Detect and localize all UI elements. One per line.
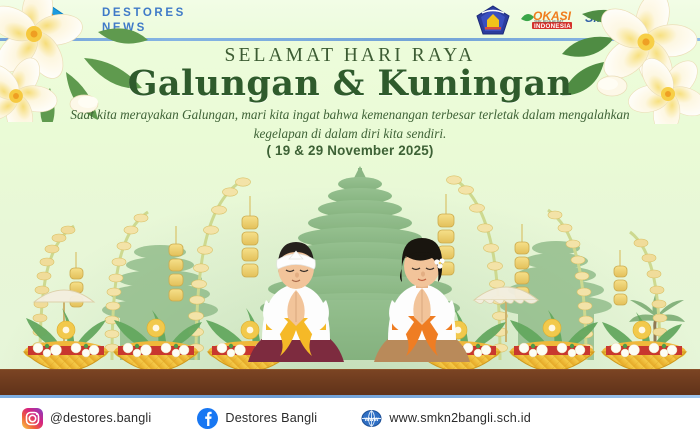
date-text: ( 19 & 29 November 2025)	[0, 143, 700, 158]
instagram-icon	[22, 408, 43, 429]
page-title: Galungan & Kuningan	[0, 63, 700, 104]
offering-basket	[114, 341, 198, 371]
poster-canvas: DESTORES NEWS OKASI INDONESIA SMK BISA H…	[0, 0, 700, 438]
offering-basket	[602, 341, 686, 371]
lantern	[169, 226, 183, 301]
footer-bar: @destores.bangli Destores Bangli www www…	[0, 398, 700, 438]
facebook-page-name: Destores Bangli	[225, 411, 317, 425]
footer-website[interactable]: www www.smkn2bangli.sch.id	[361, 409, 531, 428]
table-surface	[0, 370, 700, 398]
svg-text:www: www	[364, 417, 379, 423]
quote-text: Saat kita merayakan Galungan, mari kita …	[60, 105, 640, 143]
footer-instagram[interactable]: @destores.bangli	[22, 408, 151, 429]
lantern	[614, 250, 627, 305]
instagram-handle: @destores.bangli	[50, 411, 151, 425]
website-url: www.smkn2bangli.sch.id	[389, 411, 531, 425]
offering-basket	[24, 341, 108, 371]
lantern	[242, 196, 258, 277]
globe-www-icon: www	[361, 409, 382, 428]
lantern	[515, 224, 529, 299]
kemendikbud-tut-wuri-handayani-logo-icon	[476, 5, 510, 35]
offering-basket	[510, 341, 594, 371]
footer-facebook[interactable]: Destores Bangli	[197, 408, 317, 429]
facebook-icon	[197, 408, 218, 429]
